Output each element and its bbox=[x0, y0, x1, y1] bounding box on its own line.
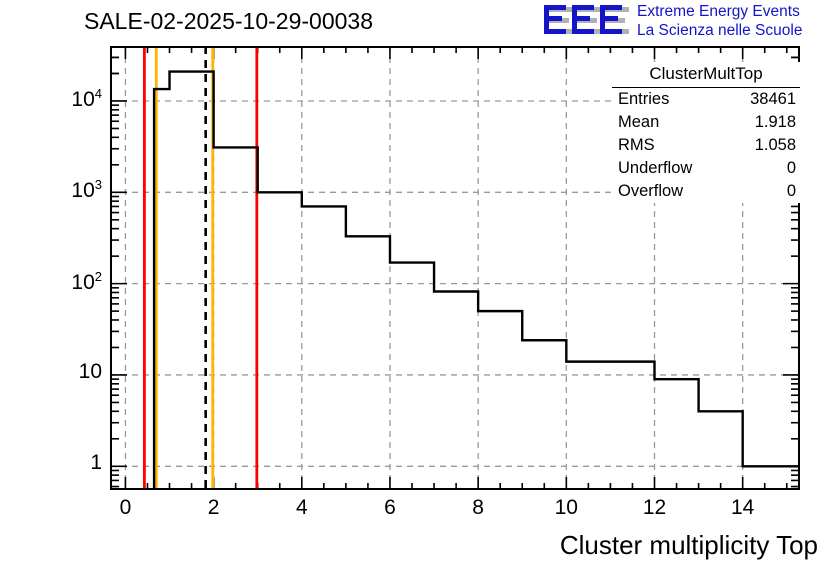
stats-row: Mean1.918 bbox=[612, 111, 800, 134]
marker-lines bbox=[144, 46, 256, 490]
logo-line-2: La Scienza nelle Scuole bbox=[637, 21, 802, 40]
stats-row-value: 38461 bbox=[750, 89, 796, 110]
x-tick-label: 2 bbox=[208, 496, 220, 520]
stats-row-key: Overflow bbox=[618, 181, 683, 202]
stats-box-title: ClusterMultTop bbox=[612, 62, 800, 88]
stats-row: Entries38461 bbox=[612, 88, 800, 111]
stats-row: Overflow0 bbox=[612, 180, 800, 203]
stats-row-value: 0 bbox=[787, 158, 796, 179]
page-title: SALE-02-2025-10-29-00038 bbox=[84, 8, 373, 35]
x-tick-label: 0 bbox=[120, 496, 132, 520]
stats-row-key: Underflow bbox=[618, 158, 692, 179]
x-tick-label: 4 bbox=[296, 496, 308, 520]
stats-row-key: Entries bbox=[618, 89, 669, 110]
stats-rows: Entries38461Mean1.918RMS1.058Underflow0O… bbox=[612, 88, 800, 203]
y-tick-label: 10 bbox=[79, 360, 102, 384]
x-axis-title: Cluster multiplicity Top bbox=[560, 530, 818, 561]
logo-line-1: Extreme Energy Events bbox=[637, 2, 802, 21]
x-tick-label: 6 bbox=[384, 496, 396, 520]
stats-row-value: 0 bbox=[787, 181, 796, 202]
x-tick-label: 14 bbox=[731, 496, 754, 520]
stats-row-value: 1.058 bbox=[755, 135, 796, 156]
eee-mark-icon bbox=[541, 2, 631, 40]
stats-box: ClusterMultTop Entries38461Mean1.918RMS1… bbox=[612, 62, 800, 203]
y-tick-label: 102 bbox=[71, 269, 102, 295]
eee-logo: Extreme Energy Events La Scienza nelle S… bbox=[541, 2, 833, 42]
stats-row-key: Mean bbox=[618, 112, 659, 133]
y-tick-label: 103 bbox=[71, 177, 102, 203]
x-tick-label: 8 bbox=[472, 496, 484, 520]
x-tick-label: 12 bbox=[643, 496, 666, 520]
x-tick-label: 10 bbox=[555, 496, 578, 520]
stats-row: Underflow0 bbox=[612, 157, 800, 180]
stats-row-value: 1.918 bbox=[755, 112, 796, 133]
stats-row-key: RMS bbox=[618, 135, 655, 156]
y-tick-label: 104 bbox=[71, 86, 102, 112]
y-tick-label: 1 bbox=[90, 451, 102, 475]
stats-row: RMS1.058 bbox=[612, 134, 800, 157]
